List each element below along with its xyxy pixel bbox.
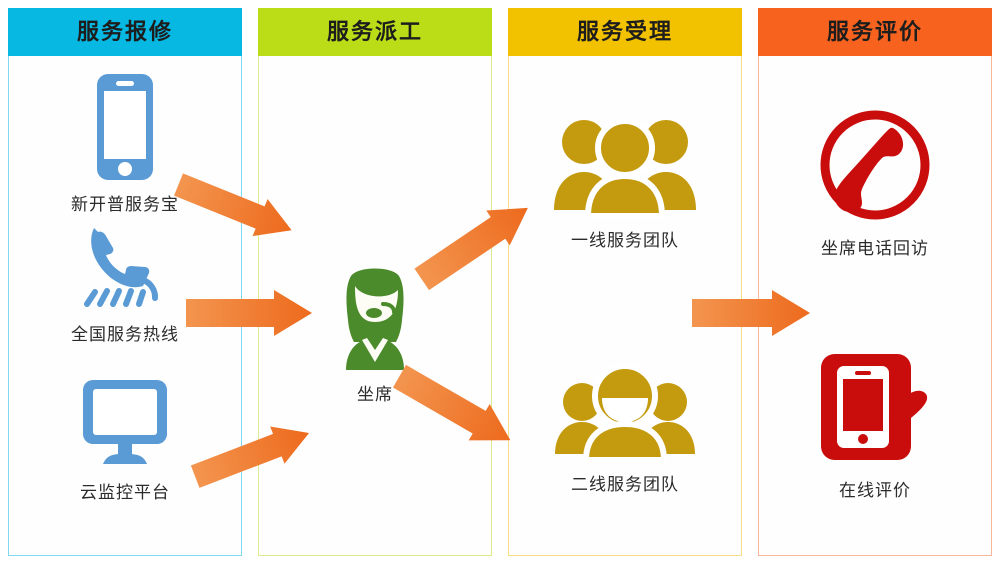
column-service-report: 服务报修 新开普服务宝 <box>8 8 242 556</box>
node-smartphone[interactable]: 新开普服务宝 <box>9 72 241 215</box>
column-body-service-dispatch: 坐席 <box>258 56 492 556</box>
node-caption-smartphone: 新开普服务宝 <box>9 190 241 215</box>
column-header-service-dispatch: 服务派工 <box>258 8 492 56</box>
node-cloud-monitor[interactable]: 云监控平台 <box>9 376 241 503</box>
column-service-accept: 服务受理 一线服务团队 <box>508 8 742 556</box>
node-caption-operator: 坐席 <box>259 380 491 405</box>
column-service-evaluate: 服务评价 坐席电话回访 <box>758 8 992 556</box>
column-header-service-accept: 服务受理 <box>508 8 742 56</box>
column-header-service-report: 服务报修 <box>8 8 242 56</box>
node-online-review[interactable]: 在线评价 <box>759 346 991 501</box>
node-caption-second-line-team: 二线服务团队 <box>509 470 741 495</box>
operator-headset-icon <box>259 264 491 372</box>
node-hotline[interactable]: 全国服务热线 <box>9 224 241 345</box>
node-caption-phone-callback: 坐席电话回访 <box>759 234 991 259</box>
monitor-icon <box>9 376 241 470</box>
column-body-service-evaluate: 坐席电话回访 在线评价 <box>758 56 992 556</box>
smartphone-icon <box>9 72 241 182</box>
hotline-phone-icon <box>9 224 241 312</box>
column-body-service-accept: 一线服务团队 二线服务团队 <box>508 56 742 556</box>
column-body-service-report: 新开普服务宝 全国服 <box>8 56 242 556</box>
team-group-back-icon <box>509 364 741 462</box>
node-caption-cloud-monitor: 云监控平台 <box>9 478 241 503</box>
node-caption-online-review: 在线评价 <box>759 476 991 501</box>
column-header-service-evaluate: 服务评价 <box>758 8 992 56</box>
phone-circle-icon <box>759 104 991 226</box>
node-first-line-team[interactable]: 一线服务团队 <box>509 114 741 251</box>
column-service-dispatch: 服务派工 坐席 <box>258 8 492 556</box>
node-second-line-team[interactable]: 二线服务团队 <box>509 364 741 495</box>
service-flow-diagram: 服务报修 新开普服务宝 <box>0 0 1000 567</box>
mobile-review-icon <box>759 346 991 468</box>
node-caption-hotline: 全国服务热线 <box>9 320 241 345</box>
node-caption-first-line-team: 一线服务团队 <box>509 226 741 251</box>
node-phone-callback[interactable]: 坐席电话回访 <box>759 104 991 259</box>
team-group-icon <box>509 114 741 218</box>
node-operator[interactable]: 坐席 <box>259 264 491 405</box>
